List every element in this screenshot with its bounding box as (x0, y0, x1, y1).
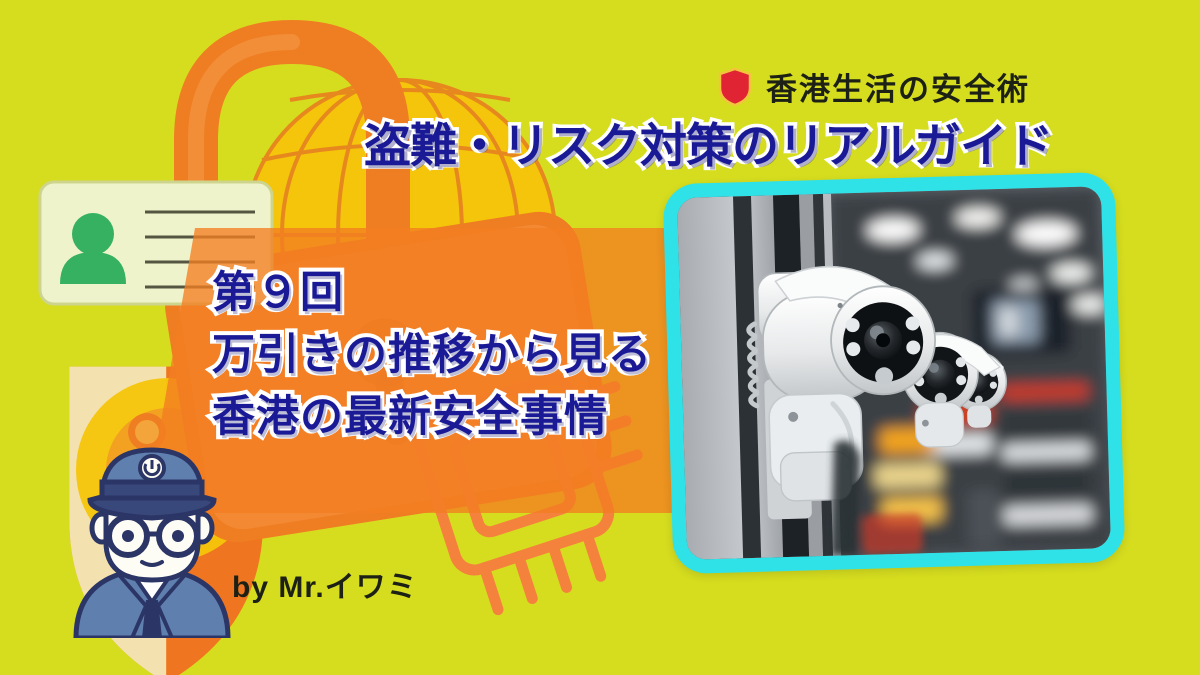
episode-number: 第９回 (212, 262, 682, 324)
main-headline: 盗難・リスク対策のリアルガイド (364, 107, 1044, 176)
shield-icon (718, 67, 752, 107)
guard-mascot-illustration (62, 438, 242, 638)
author-byline: by Mr.イワミ (232, 562, 418, 606)
series-badge: 香港生活の安全術 (718, 64, 1030, 109)
title-line-2: 香港の最新安全事情 (212, 386, 682, 448)
episode-title-block: 第９回 万引きの推移から見る 香港の最新安全事情 (212, 262, 682, 448)
photo-card (663, 172, 1126, 574)
photo-image (677, 186, 1111, 560)
thumbnail-canvas: 香港生活の安全術 盗難・リスク対策のリアルガイド 第９回 万引きの推移から見る … (0, 0, 1200, 675)
title-line-1: 万引きの推移から見る (212, 324, 682, 386)
series-badge-label: 香港生活の安全術 (766, 64, 1030, 109)
